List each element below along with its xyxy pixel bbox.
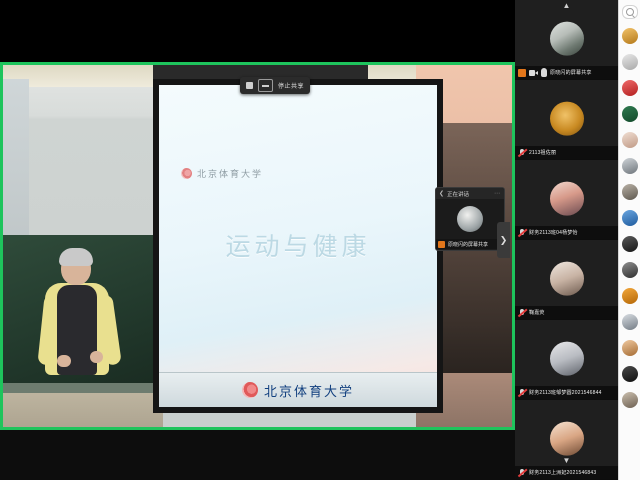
avatar: [550, 421, 584, 455]
avatar: [550, 101, 584, 135]
share-control-toolbar[interactable]: 停止共享: [240, 77, 310, 94]
contacts-panel[interactable]: [618, 0, 640, 480]
mic-muted-icon[interactable]: [518, 229, 526, 237]
participant-tile[interactable]: 2113祖佐丽: [515, 80, 618, 160]
mic-muted-icon[interactable]: [518, 309, 526, 317]
avatar: [550, 181, 584, 215]
avatar: [457, 206, 483, 232]
avatar: [622, 236, 638, 252]
participant-label: 原晓闪的屏幕共享: [515, 66, 618, 79]
scroll-down-icon[interactable]: ▼: [563, 457, 571, 465]
stop-share-icon[interactable]: [258, 79, 273, 92]
list-item[interactable]: [619, 309, 640, 335]
pause-icon[interactable]: [246, 82, 253, 89]
presenter-hair: [59, 248, 93, 266]
avatar: [622, 314, 638, 330]
avatar: [622, 54, 638, 70]
mic-icon[interactable]: [541, 68, 547, 77]
slide-footer-banner: 北京体育大学: [159, 372, 437, 407]
list-item[interactable]: [619, 101, 640, 127]
participant-label: 财务2113上洲妃2021546843: [515, 466, 618, 479]
list-item[interactable]: [619, 387, 640, 413]
avatar: [622, 288, 638, 304]
avatar: [622, 184, 638, 200]
stop-share-label: 停止共享: [278, 81, 304, 90]
participant-name: 鞠嘉荧: [529, 309, 545, 316]
list-item[interactable]: [619, 153, 640, 179]
list-item[interactable]: [619, 283, 640, 309]
participant-tile[interactable]: 财务2113班04杨梦怡: [515, 160, 618, 240]
pip-footer: 原晓闪的屏幕共享: [436, 239, 504, 249]
list-item[interactable]: [619, 205, 640, 231]
participant-name: 财务2113班邹梦圆2021546844: [529, 389, 602, 396]
chevron-right-icon: ❯: [500, 235, 508, 246]
pip-header: ❮ 正在讲话 ⋯: [436, 188, 504, 199]
participant-tile[interactable]: ▲ 原晓闪的屏幕共享: [515, 0, 618, 80]
avatar: [622, 80, 638, 96]
avatar: [622, 392, 638, 408]
participant-name: 2113祖佐丽: [529, 149, 556, 156]
participant-name: 财务2113上洲妃2021546843: [529, 469, 596, 476]
pip-video: [436, 199, 504, 239]
participant-tile[interactable]: 鞠嘉荧: [515, 240, 618, 320]
shared-screen-stage: 北京体育大学 运动与健康 北京体育大学 演示文稿2 - PowerPoint: [0, 0, 515, 480]
avatar: [622, 132, 638, 148]
slide-watermark-text: 北京体育大学: [197, 167, 263, 180]
slide-title: 运动与健康: [159, 227, 437, 263]
search-icon: [626, 8, 634, 16]
participant-label: 2113祖佐丽: [515, 146, 618, 159]
picture-in-picture-self-view[interactable]: ❮ 正在讲话 ⋯ 原晓闪的屏幕共享: [435, 187, 505, 251]
list-item[interactable]: [619, 231, 640, 257]
scroll-up-icon[interactable]: ▲: [563, 2, 571, 10]
list-item[interactable]: [619, 49, 640, 75]
list-item[interactable]: [619, 75, 640, 101]
chevron-left-icon[interactable]: ❮: [439, 190, 444, 197]
participant-name: 财务2113班04杨梦怡: [529, 229, 578, 236]
camera-icon[interactable]: [529, 69, 538, 77]
mic-muted-icon[interactable]: [518, 149, 526, 157]
avatar: [622, 366, 638, 382]
presenter-left-hand: [57, 355, 71, 367]
list-item[interactable]: [619, 335, 640, 361]
participant-tile[interactable]: ▼ 财务2113上洲妃2021546843: [515, 400, 618, 480]
mic-muted-icon[interactable]: [518, 389, 526, 397]
avatar: [550, 21, 584, 55]
presenter-figure: [43, 251, 115, 401]
avatar: [622, 262, 638, 278]
screen-share-meeting-window: 北京体育大学 运动与健康 北京体育大学 演示文稿2 - PowerPoint: [0, 0, 640, 480]
more-options-icon[interactable]: ⋯: [494, 190, 501, 197]
participant-label: 财务2113班邹梦圆2021546844: [515, 386, 618, 399]
mic-muted-icon[interactable]: [518, 469, 526, 477]
avatar: [622, 340, 638, 356]
participant-name: 原晓闪的屏幕共享: [550, 69, 592, 76]
stage-letterbox-bottom: [0, 430, 515, 480]
screen-share-frame: 北京体育大学 运动与健康 北京体育大学 演示文稿2 - PowerPoint: [0, 62, 515, 430]
list-item[interactable]: [619, 361, 640, 387]
pip-participant-label: 原晓闪的屏幕共享: [448, 241, 488, 248]
avatar: [622, 158, 638, 174]
presenter-right-hand: [90, 351, 103, 363]
search-input[interactable]: [622, 5, 638, 19]
avatar: [550, 261, 584, 295]
avatar: [622, 106, 638, 122]
participant-label: 鞠嘉荧: [515, 306, 618, 319]
list-item[interactable]: [619, 257, 640, 283]
list-item[interactable]: [619, 179, 640, 205]
university-logo-icon: [181, 168, 192, 179]
stage-letterbox-top: [0, 0, 515, 62]
slide-watermark: 北京体育大学: [181, 163, 326, 183]
presentation-slide: 北京体育大学 运动与健康 北京体育大学: [159, 85, 437, 407]
sidebar-collapse-handle[interactable]: ❯: [497, 222, 510, 258]
slide-banner-text: 北京体育大学: [264, 381, 354, 400]
list-item[interactable]: [619, 127, 640, 153]
participant-tile[interactable]: 财务2113班邹梦圆2021546844: [515, 320, 618, 400]
mic-on-icon[interactable]: [438, 241, 445, 248]
mic-on-icon[interactable]: [518, 69, 526, 77]
avatar: [622, 210, 638, 226]
pip-title: 正在讲话: [447, 190, 469, 198]
avatar: [622, 28, 638, 44]
participant-rail[interactable]: ▲ 原晓闪的屏幕共享 2113祖佐丽 财务2113班04杨梦怡: [515, 0, 618, 480]
university-logo-icon: [242, 382, 258, 398]
list-item[interactable]: [619, 23, 640, 49]
avatar: [550, 341, 584, 375]
participant-label: 财务2113班04杨梦怡: [515, 226, 618, 239]
